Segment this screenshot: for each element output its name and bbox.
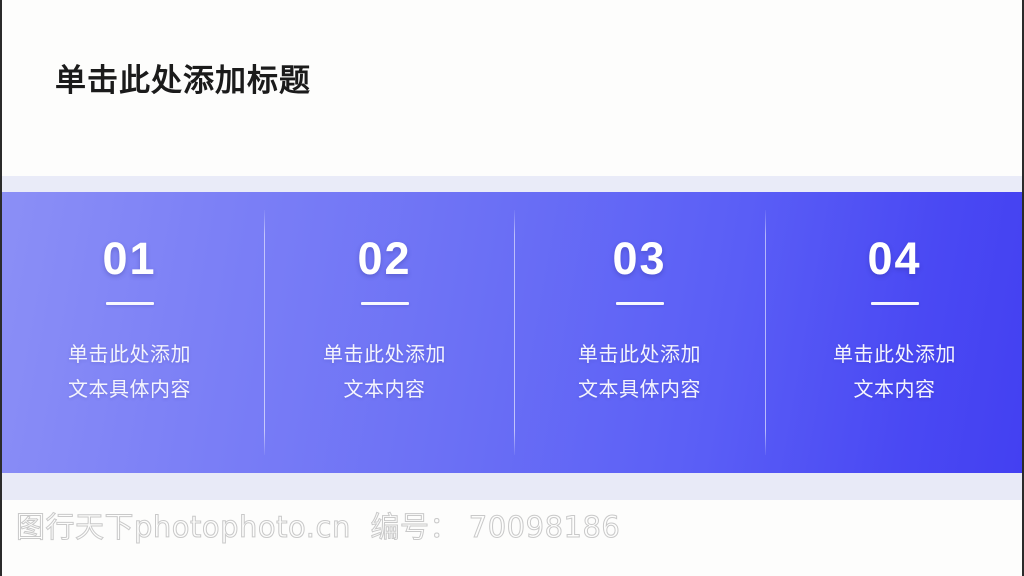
column-list: 01 单击此处添加 文本具体内容 02 单击此处添加 文本内容 03 bbox=[2, 192, 1022, 473]
content-column-04[interactable]: 04 单击此处添加 文本内容 bbox=[767, 192, 1022, 473]
accent-strip-bottom bbox=[2, 473, 1022, 500]
column-number: 04 bbox=[867, 236, 921, 281]
content-band: 01 单击此处添加 文本具体内容 02 单击此处添加 文本内容 03 bbox=[2, 192, 1022, 473]
column-number: 02 bbox=[357, 236, 411, 281]
column-number: 01 bbox=[102, 236, 156, 281]
slide-canvas: 单击此处添加标题 01 单击此处添加 文本具体内容 02 单击此处添加 文本内容 bbox=[0, 0, 1024, 576]
column-body[interactable]: 单击此处添加 文本具体内容 bbox=[68, 338, 191, 408]
slide-footer: 图行天下photophoto.cn 编号： 70098186 bbox=[2, 500, 1022, 576]
slide-header: 单击此处添加标题 bbox=[2, 0, 1022, 176]
column-rule bbox=[361, 302, 409, 305]
column-number: 03 bbox=[612, 236, 666, 281]
column-body[interactable]: 单击此处添加 文本具体内容 bbox=[578, 338, 701, 408]
column-body-line-1: 单击此处添加 bbox=[578, 338, 701, 373]
watermark: 图行天下photophoto.cn 编号： 70098186 bbox=[16, 508, 620, 546]
column-rule bbox=[616, 302, 664, 305]
column-body-line-2: 文本内容 bbox=[323, 373, 446, 408]
content-column-03[interactable]: 03 单击此处添加 文本具体内容 bbox=[512, 192, 767, 473]
column-rule bbox=[871, 302, 919, 305]
page-title[interactable]: 单击此处添加标题 bbox=[55, 62, 311, 99]
column-body-line-2: 文本具体内容 bbox=[578, 373, 701, 408]
watermark-id-label: 编号： bbox=[371, 510, 460, 544]
content-column-01[interactable]: 01 单击此处添加 文本具体内容 bbox=[2, 192, 257, 473]
column-body[interactable]: 单击此处添加 文本内容 bbox=[323, 338, 446, 408]
column-body-line-2: 文本具体内容 bbox=[68, 373, 191, 408]
watermark-site: 图行天下photophoto.cn bbox=[16, 510, 351, 544]
column-body-line-1: 单击此处添加 bbox=[833, 338, 956, 373]
accent-strip-top bbox=[2, 176, 1022, 192]
column-body[interactable]: 单击此处添加 文本内容 bbox=[833, 338, 956, 408]
column-rule bbox=[106, 302, 154, 305]
content-column-02[interactable]: 02 单击此处添加 文本内容 bbox=[257, 192, 512, 473]
watermark-id-value: 70098186 bbox=[469, 510, 621, 544]
column-body-line-1: 单击此处添加 bbox=[323, 338, 446, 373]
column-body-line-1: 单击此处添加 bbox=[68, 338, 191, 373]
column-body-line-2: 文本内容 bbox=[833, 373, 956, 408]
